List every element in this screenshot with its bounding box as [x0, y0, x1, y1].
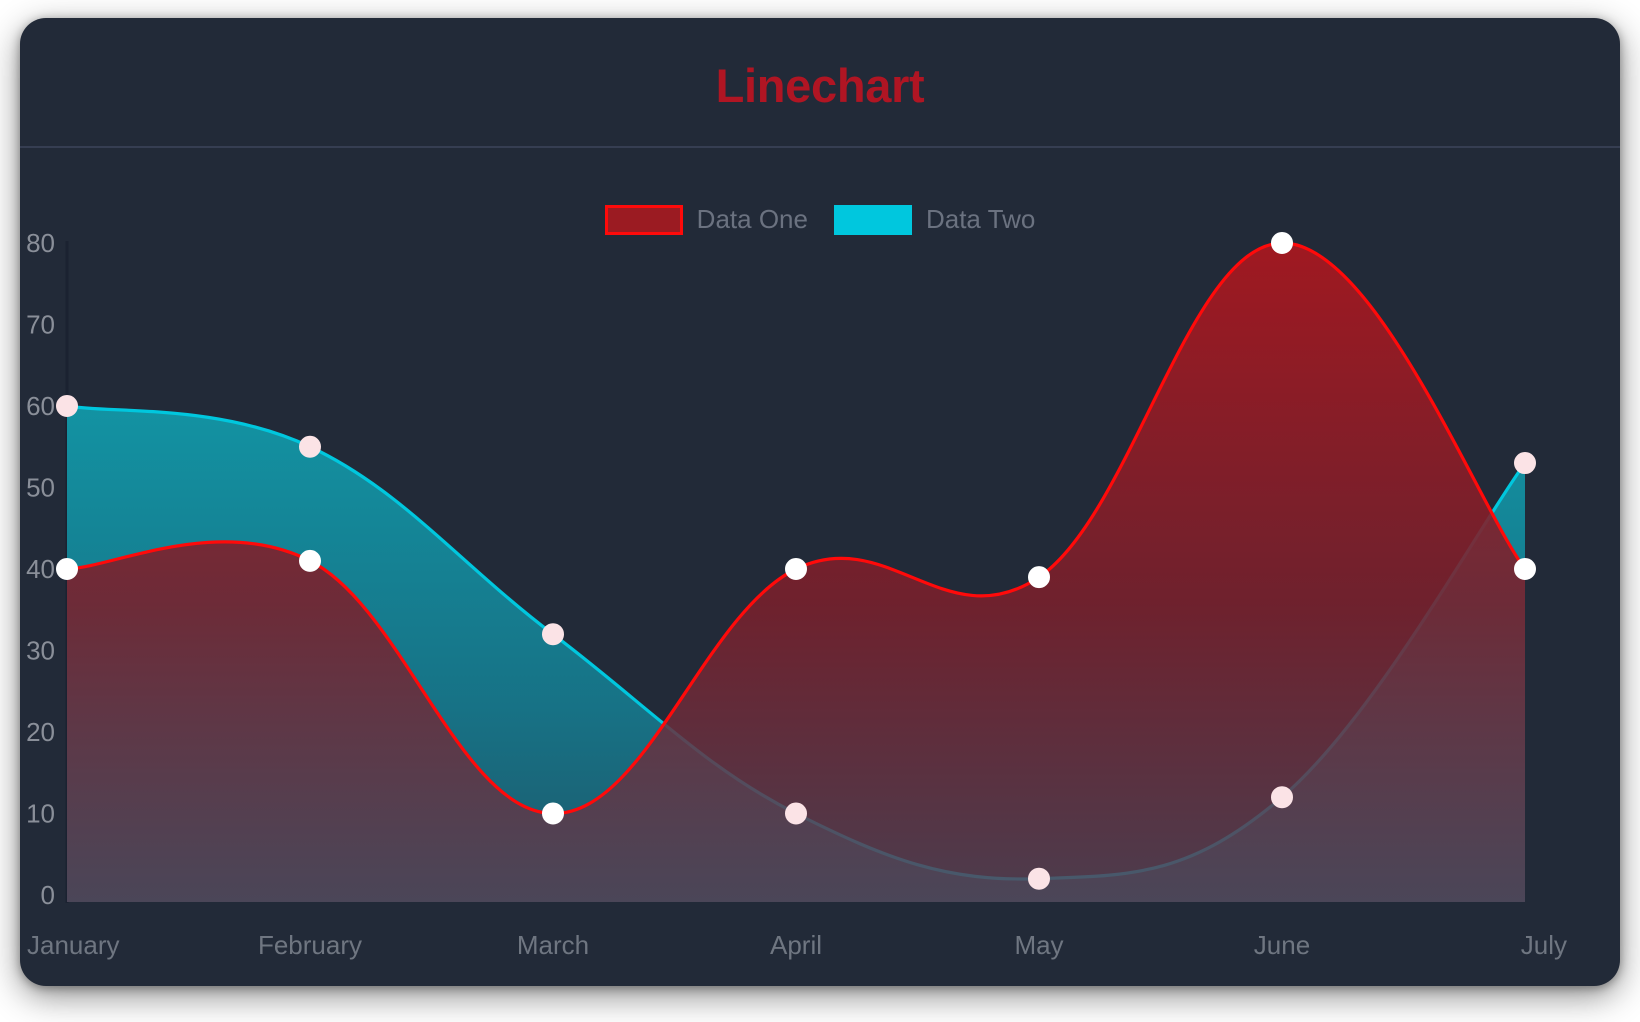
linechart-svg[interactable]: 80706050403020100 JanuaryFebruaryMarchAp…	[20, 18, 1620, 986]
data-point-marker[interactable]	[543, 803, 564, 824]
data-point-marker[interactable]	[1029, 868, 1050, 889]
x-axis-tick-label: February	[258, 930, 362, 960]
screen-root: Linechart Data One Data Two	[0, 0, 1640, 1022]
data-point-marker[interactable]	[543, 624, 564, 645]
data-point-marker[interactable]	[786, 803, 807, 824]
data-point-marker[interactable]	[300, 550, 321, 571]
y-axis-tick-label: 80	[26, 228, 55, 258]
x-axis-tick-label: January	[27, 930, 120, 960]
x-axis-tick-label: April	[770, 930, 822, 960]
y-axis-tick-label: 10	[26, 799, 55, 829]
x-axis: JanuaryFebruaryMarchAprilMayJuneJuly	[27, 930, 1567, 960]
y-axis-tick-label: 50	[26, 473, 55, 503]
y-axis-tick-label: 60	[26, 391, 55, 421]
y-axis-tick-label: 0	[41, 880, 55, 910]
data-point-marker[interactable]	[786, 559, 807, 580]
linechart-card: Linechart Data One Data Two	[20, 18, 1620, 986]
y-axis-tick-label: 30	[26, 636, 55, 666]
data-point-marker[interactable]	[1515, 559, 1536, 580]
data-point-marker[interactable]	[1029, 567, 1050, 588]
x-axis-tick-label: June	[1254, 930, 1310, 960]
y-axis-tick-label: 70	[26, 310, 55, 340]
data-point-marker[interactable]	[57, 396, 78, 417]
data-point-marker[interactable]	[1515, 453, 1536, 474]
data-point-marker[interactable]	[1272, 787, 1293, 808]
x-axis-tick-label: March	[517, 930, 589, 960]
data-point-marker[interactable]	[57, 559, 78, 580]
y-axis-tick-label: 20	[26, 717, 55, 747]
data-point-marker[interactable]	[300, 436, 321, 457]
y-axis-tick-label: 40	[26, 554, 55, 584]
plot-area: 80706050403020100 JanuaryFebruaryMarchAp…	[20, 18, 1620, 986]
x-axis-tick-label: May	[1014, 930, 1063, 960]
data-point-marker[interactable]	[1272, 233, 1293, 254]
x-axis-tick-label: July	[1521, 930, 1567, 960]
